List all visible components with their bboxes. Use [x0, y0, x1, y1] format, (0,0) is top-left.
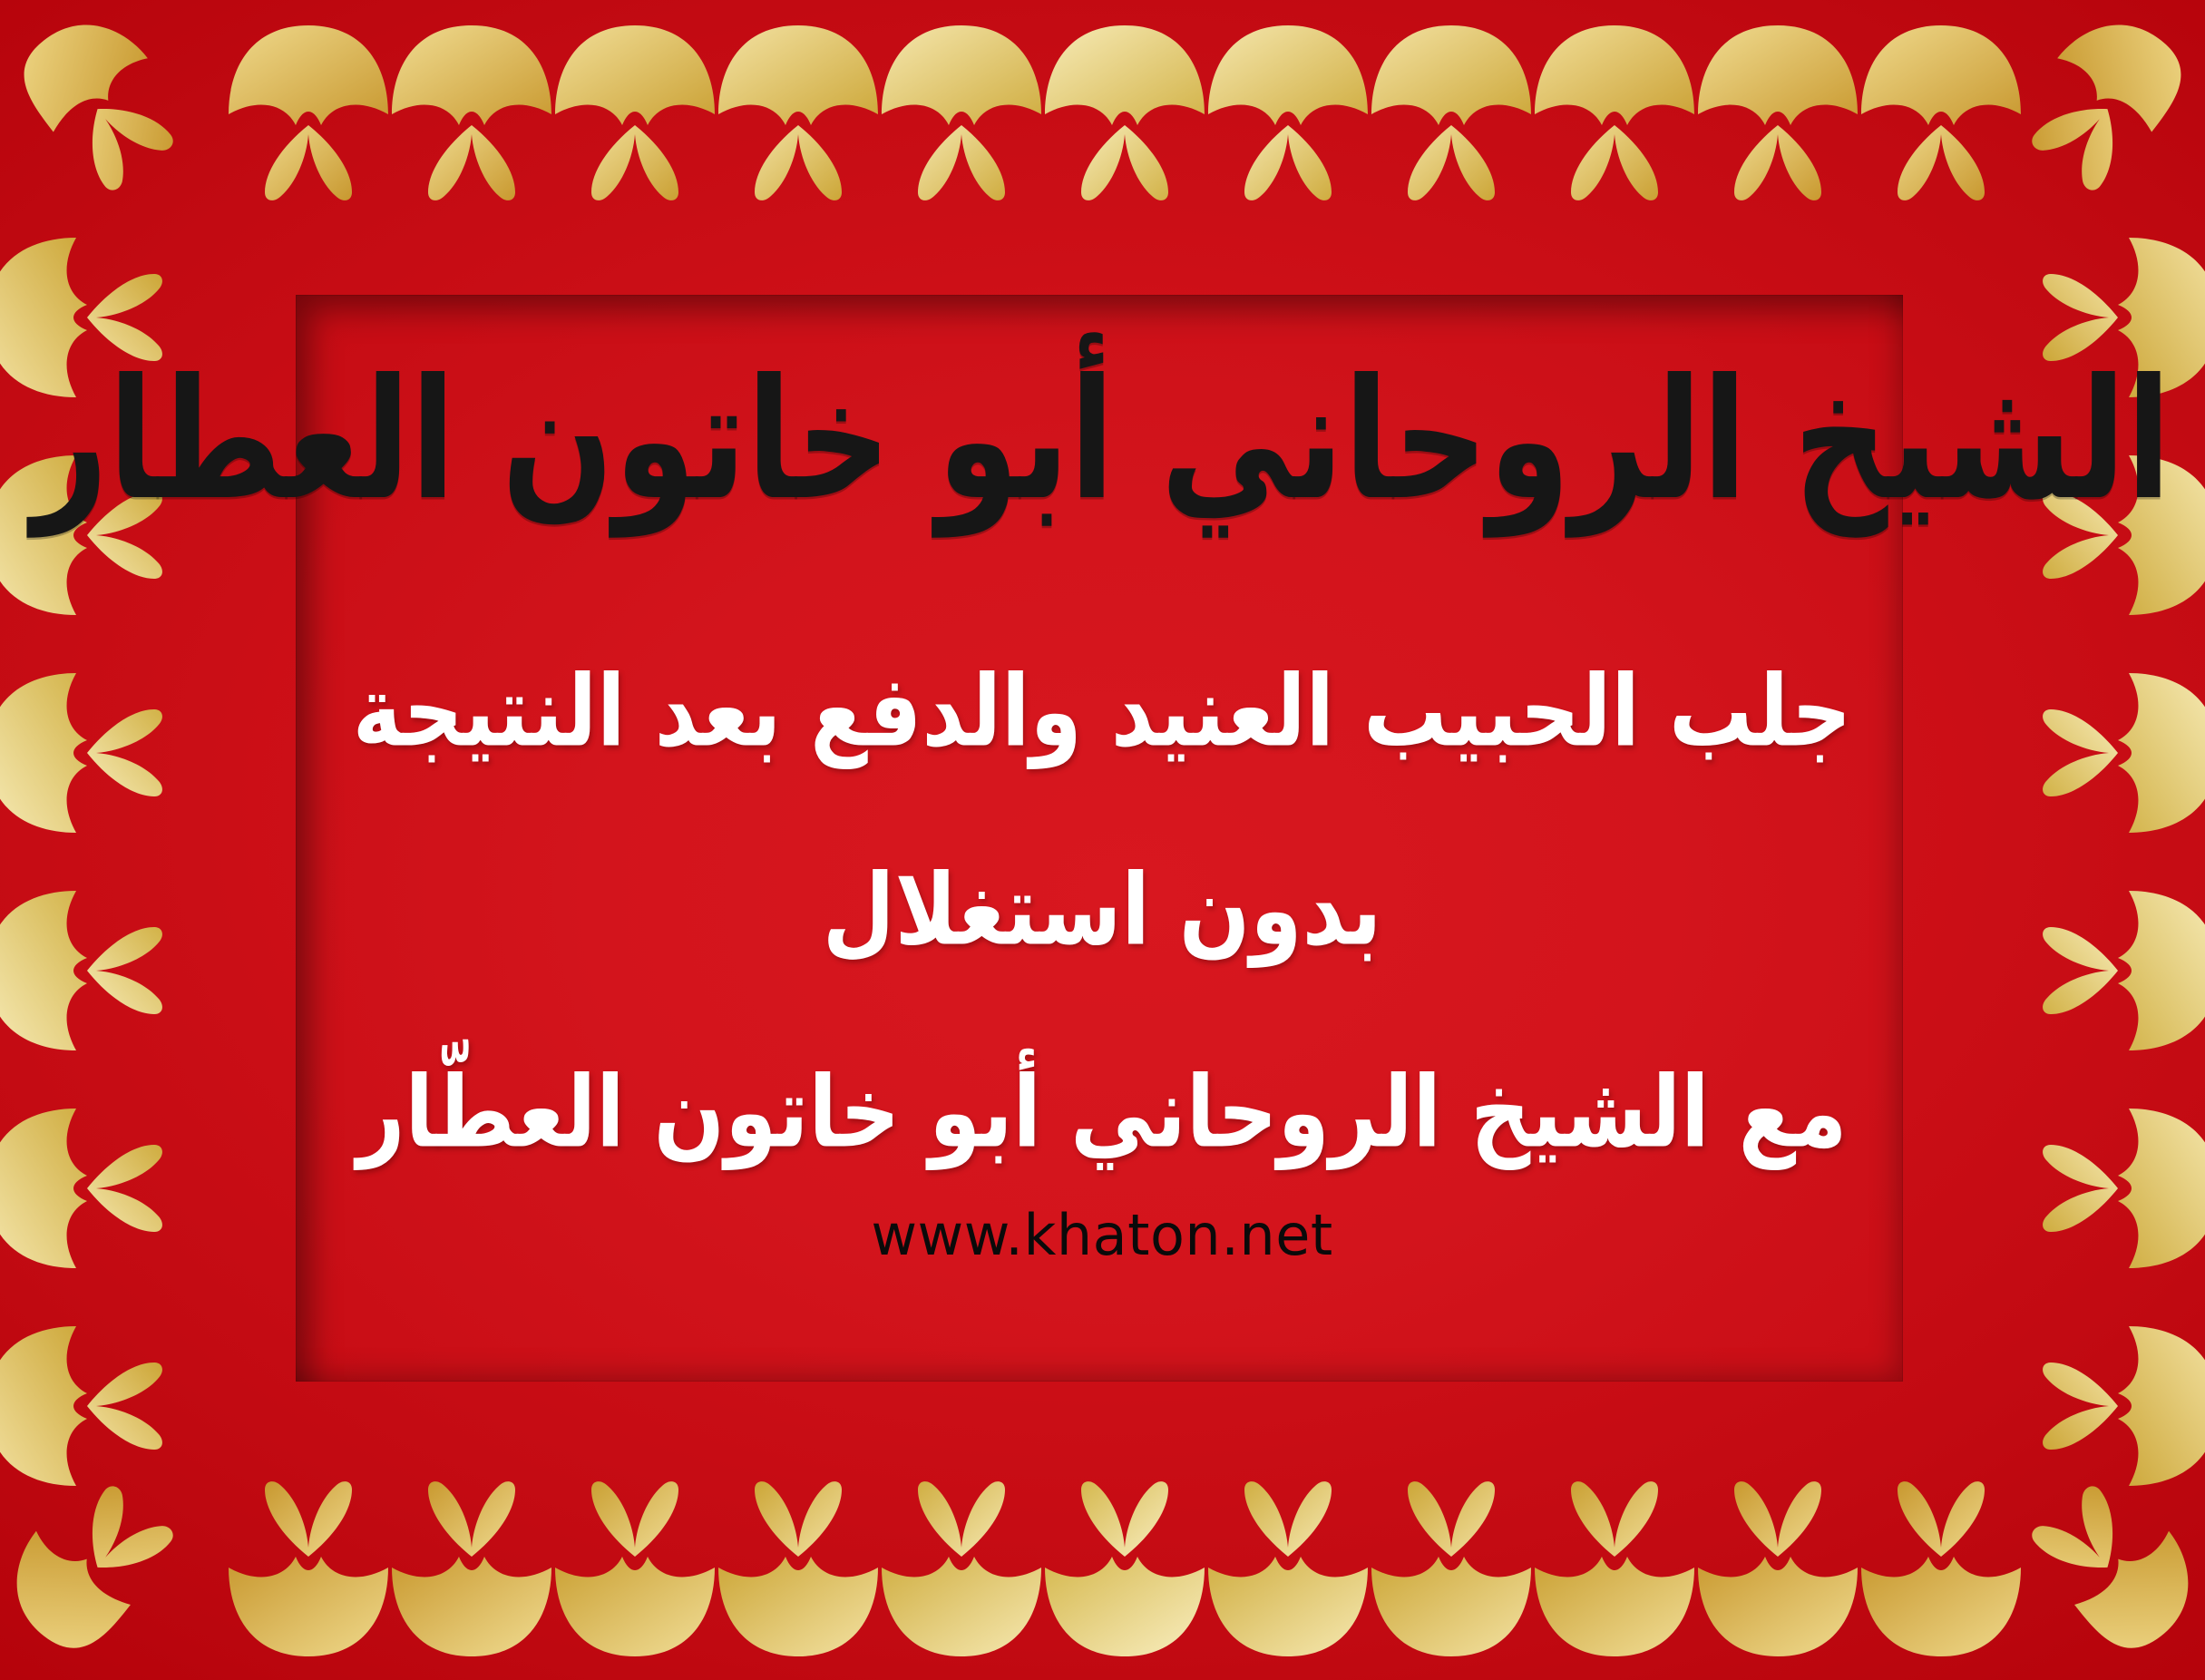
body-line-1: جلب الحبيب العنيد والدفع بعد النتيجة — [353, 657, 1852, 765]
diya-lamp-motif — [1206, 20, 1370, 201]
diya-lamp-motif — [2002, 0, 2205, 215]
diya-lamp-motif — [2042, 671, 2205, 835]
diya-lamp-motif — [717, 1480, 880, 1662]
website-url[interactable]: www.khaton.net — [871, 1207, 1332, 1264]
diya-lamp-motif — [1370, 20, 1533, 201]
border-band-left — [0, 0, 209, 1680]
body-line-2: بدون استغلال — [823, 856, 1382, 964]
diya-lamp-motif — [0, 1324, 163, 1488]
diya-lamp-motif — [0, 889, 163, 1052]
diya-lamp-motif — [0, 671, 163, 835]
diya-lamp-motif — [880, 20, 1043, 201]
diya-lamp-motif — [0, 1107, 163, 1270]
diya-lamp-motif — [717, 20, 880, 201]
diya-lamp-motif — [1696, 1480, 1859, 1662]
diya-lamp-motif — [553, 20, 717, 201]
poster-content: الشيخ الروحاني أبو خاتون العطار جلب الحب… — [227, 272, 1977, 1415]
diya-lamp-motif — [1370, 1480, 1533, 1662]
body-line-3: مع الشيخ الروحاني أبو خاتون العطّار — [357, 1059, 1848, 1167]
diya-lamp-motif — [1043, 1480, 1206, 1662]
diya-lamp-motif — [1206, 1480, 1370, 1662]
diya-lamp-motif — [553, 1480, 717, 1662]
diya-lamp-motif — [1533, 20, 1696, 201]
diya-lamp-motif — [2042, 1324, 2205, 1488]
diya-lamp-motif — [1859, 1480, 2023, 1662]
diya-lamp-motif — [2042, 1107, 2205, 1270]
border-band-right — [1996, 0, 2205, 1680]
diya-lamp-motif — [0, 1461, 203, 1680]
diya-lamp-motif — [390, 1480, 553, 1662]
diya-lamp-motif — [1696, 20, 1859, 201]
diya-lamp-motif — [2042, 889, 2205, 1052]
diya-lamp-motif — [2002, 1461, 2205, 1680]
diya-lamp-motif — [390, 20, 553, 201]
page-title: الشيخ الروحاني أبو خاتون العطار — [33, 355, 2171, 529]
diya-lamp-motif — [0, 0, 203, 215]
diya-lamp-motif — [1043, 20, 1206, 201]
diya-lamp-motif — [227, 1480, 390, 1662]
diya-lamp-motif — [1533, 1480, 1696, 1662]
diya-lamp-motif — [227, 20, 390, 201]
poster-canvas: الشيخ الروحاني أبو خاتون العطار جلب الحب… — [0, 0, 2205, 1680]
border-band-bottom — [0, 1462, 2205, 1680]
diya-lamp-motif — [1859, 20, 2023, 201]
diya-lamp-motif — [880, 1480, 1043, 1662]
border-band-top — [0, 0, 2205, 218]
